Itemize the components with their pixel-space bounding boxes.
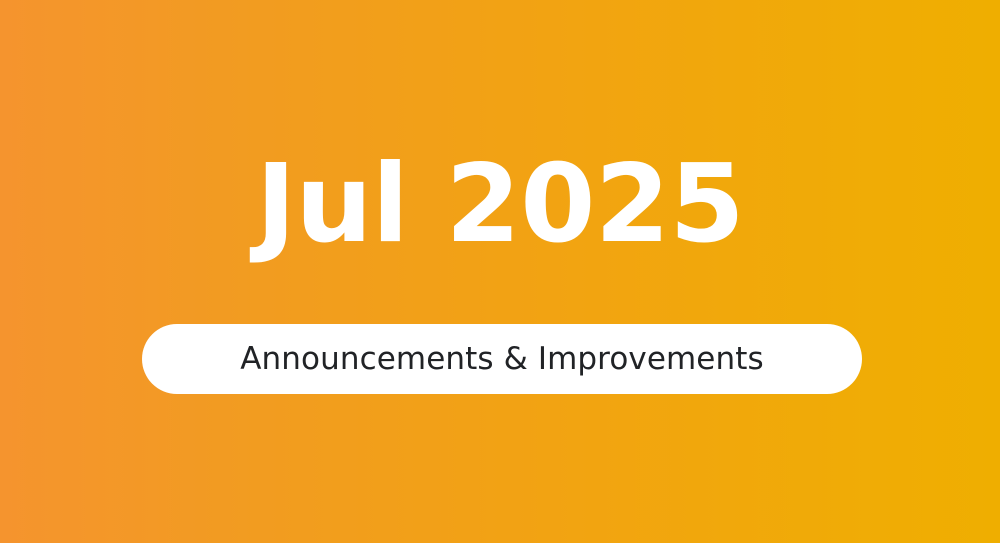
page-title: Jul 2025 <box>0 132 1000 278</box>
release-notes-banner: Jul 2025 Announcements & Improvements <box>0 0 1000 543</box>
status-badge: Announcements & Improvements <box>142 324 862 394</box>
status-badge-label: Announcements & Improvements <box>240 341 763 377</box>
